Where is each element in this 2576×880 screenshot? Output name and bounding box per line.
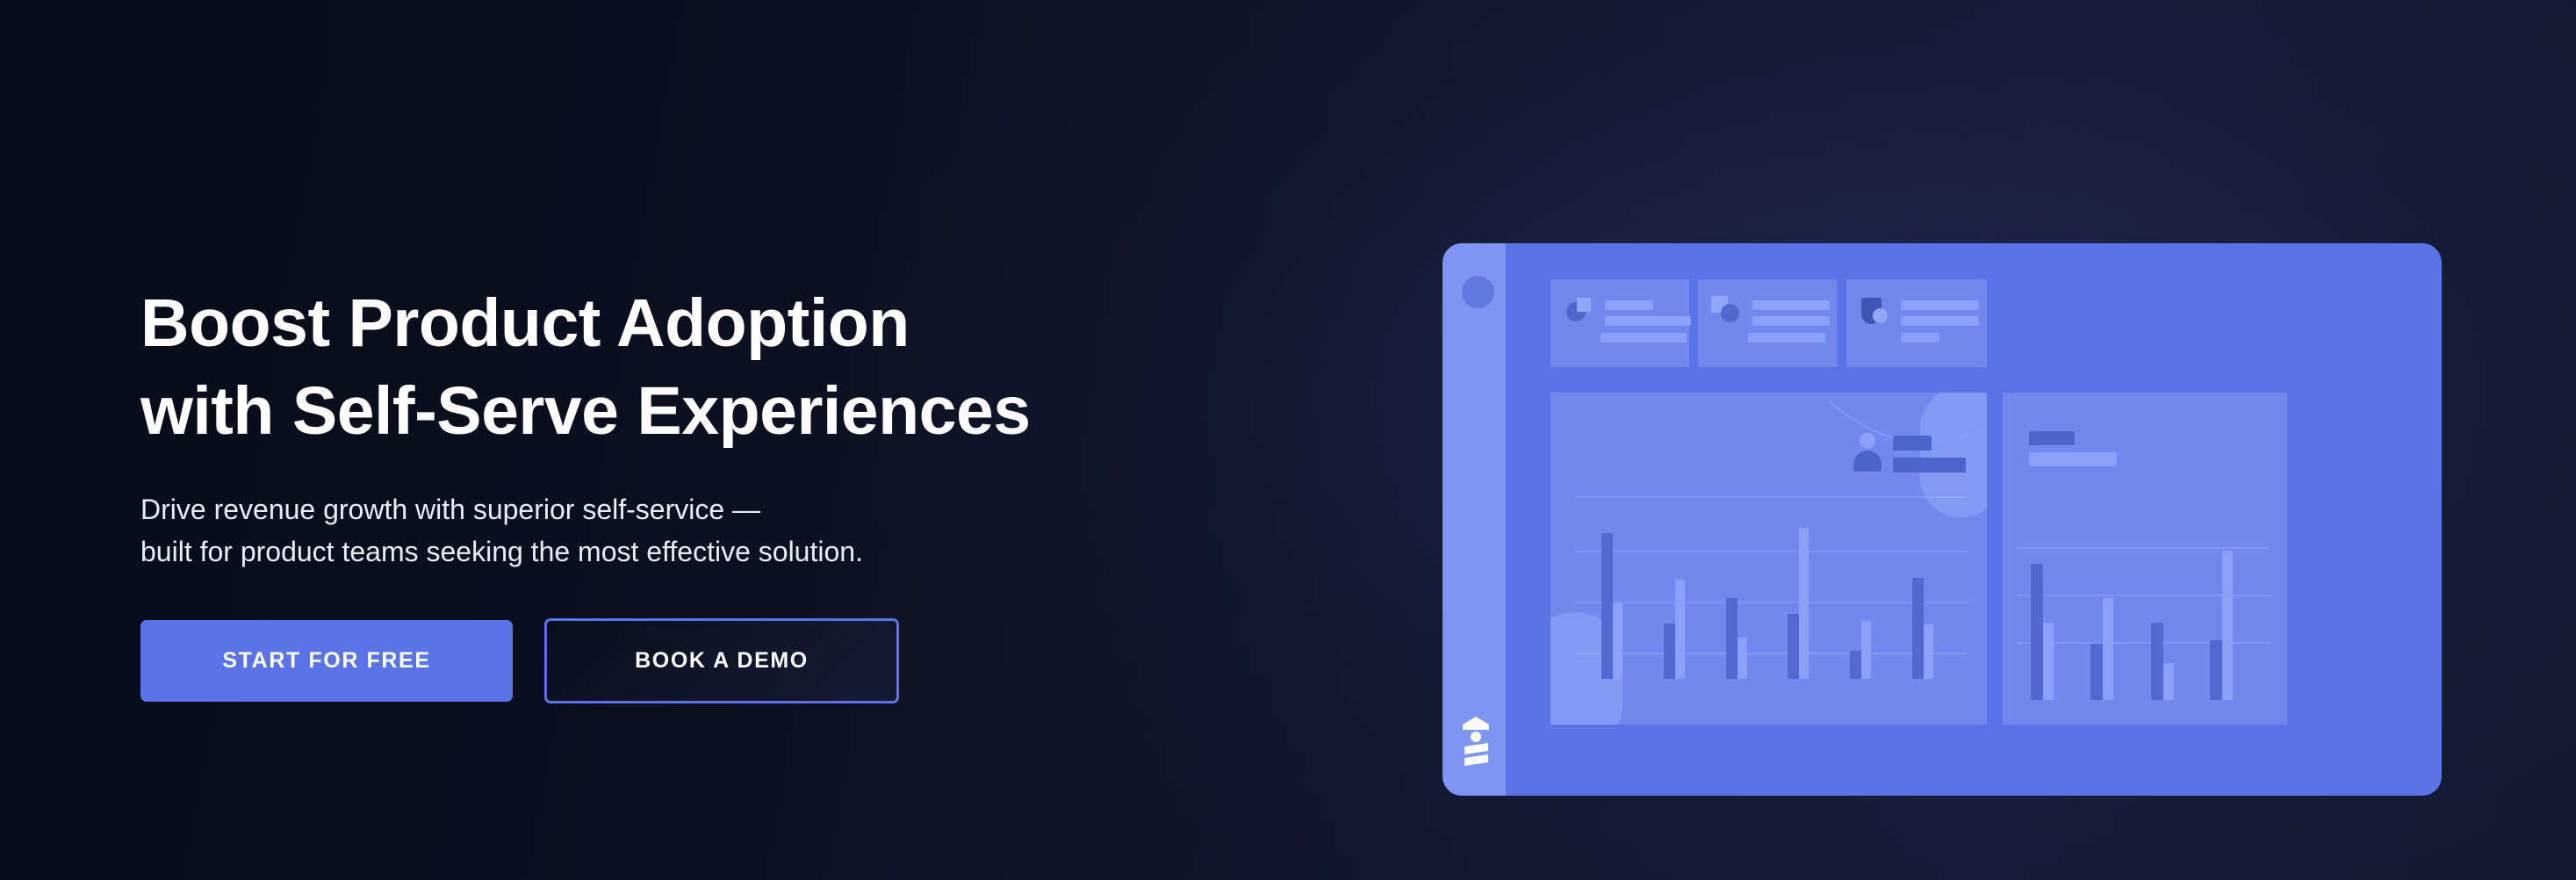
chart-bar [2103,598,2113,700]
text-line [1901,316,1979,326]
chart-bar [2090,644,2103,700]
chart-bar [1675,580,1685,679]
gridline [1575,653,1968,654]
user-avatar-body [1853,451,1882,472]
hero-copy: Boost Product Adoption with Self-Serve E… [140,279,1194,703]
legend-bar [1893,458,1966,472]
page-title: Boost Product Adoption with Self-Serve E… [140,279,1194,455]
text-line [1605,316,1691,326]
hero-subheadline: Drive revenue growth with superior self-… [140,488,1194,573]
chart-bar [2163,663,2174,700]
donut-chart-icon [1721,304,1739,322]
gridline [1575,602,1968,603]
shield-dot [1873,308,1888,323]
text-line [1901,300,1979,310]
chart-bar [1799,528,1809,679]
dashboard-sidebar [1443,243,1506,796]
chart-bar [2210,640,2222,700]
stat-card[interactable] [1846,279,1987,367]
legend-bar [1893,436,1932,451]
chart-bar [1788,614,1799,679]
gridline [2017,547,2270,549]
chart-bar [1738,638,1747,679]
text-line [1752,300,1830,310]
cta-button-row: START FOR FREE BOOK A DEMO [140,618,1194,703]
dashboard-illustration [1443,243,2442,796]
user-avatar-icon [1860,433,1875,449]
chart-bar [1850,651,1861,679]
text-line [1752,316,1830,326]
gridline [1575,496,1968,498]
stat-card[interactable] [1551,279,1689,367]
side-chart-panel[interactable] [2003,393,2287,725]
chart-bar [1601,533,1613,679]
chart-bar [1664,624,1675,679]
chart-bar [2222,551,2233,700]
chart-bar [2043,623,2054,700]
book-a-demo-button[interactable]: BOOK A DEMO [544,618,899,703]
stat-card[interactable] [1698,279,1837,367]
avatar [1462,276,1494,308]
chart-bar [2031,564,2043,700]
chart-bar [1912,578,1924,679]
chart-bar [1613,603,1623,679]
pie-chart-slice [1577,298,1591,312]
gridline [1575,551,1968,552]
chart-bar [2151,623,2163,700]
text-line [1601,333,1687,343]
legend-bar [2029,452,2117,466]
legend-bar [2029,431,2075,445]
brand-stripes-logo [1459,713,1493,768]
text-line [1901,333,1939,343]
chart-bar [1924,624,1933,679]
main-chart-panel[interactable] [1551,393,1987,725]
dashboard-body [1506,243,2442,796]
hero-section: Boost Product Adoption with Self-Serve E… [0,0,2576,880]
chart-bar [1861,621,1871,679]
text-line [1748,333,1825,343]
start-for-free-button[interactable]: START FOR FREE [140,620,513,702]
text-line [1605,300,1653,310]
chart-bar [1726,598,1738,679]
